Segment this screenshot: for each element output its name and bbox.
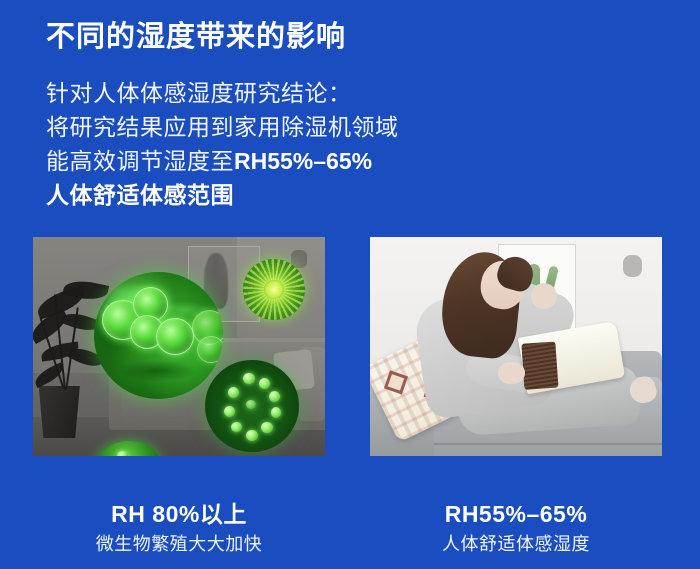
caption-high-humidity: RH 80%以上 微生物繁殖大大加快: [33, 500, 325, 556]
intro-line-3: 能高效调节湿度至RH55%–65%: [46, 144, 399, 178]
microbe-dot: [246, 430, 257, 441]
intro-paragraph: 针对人体体感湿度研究结论： 将研究结果应用到家用除湿机领域 能高效调节湿度至RH…: [46, 76, 399, 212]
microbe-large-icon: [94, 272, 222, 399]
woman-hand-at-forehead: [531, 283, 557, 309]
humidity-range-highlight: RH55%–65%: [234, 148, 372, 174]
microbe-dot: [261, 422, 272, 433]
intro-line-1: 针对人体体感湿度研究结论：: [46, 76, 399, 110]
caption-title: RH 80%以上: [33, 500, 325, 528]
photo-comfort-humidity: [370, 237, 662, 456]
plant-pot: [36, 386, 83, 439]
bright-living-room-scene: [370, 237, 662, 456]
microbe-dot: [259, 378, 270, 389]
dim-living-room-scene: [33, 237, 325, 456]
intro-line-3-prefix: 能高效调节湿度至: [46, 148, 234, 174]
microbe-cell: [156, 318, 194, 356]
microbe-dot: [224, 406, 235, 417]
humidity-infographic: 不同的湿度带来的影响 针对人体体感湿度研究结论： 将研究结果应用到家用除湿机领域…: [0, 0, 700, 569]
woman-hand-holding-book: [498, 362, 524, 384]
microbe-core: [264, 280, 284, 300]
microbe-dot: [271, 407, 281, 417]
book-spine: [521, 341, 558, 389]
caption-comfort-humidity: RH55%–65% 人体舒适体感湿度: [370, 500, 662, 556]
microbe-dot: [246, 400, 255, 409]
page-title: 不同的湿度带来的影响: [46, 18, 346, 56]
microbe-cell: [197, 336, 223, 363]
caption-subtitle: 人体舒适体感湿度: [370, 532, 662, 556]
microbe-dot: [117, 451, 129, 456]
intro-line-2: 将研究结果应用到家用除湿机领域: [46, 110, 399, 144]
pillow-motif: [384, 371, 408, 395]
caption-title: RH55%–65%: [370, 500, 662, 528]
microbe-medium-icon: [205, 360, 298, 452]
wall-speaker: [623, 255, 642, 277]
photo-high-humidity: [33, 237, 325, 456]
microbe-dot: [269, 391, 280, 402]
microbe-dot: [243, 373, 255, 385]
microbe-dot: [228, 387, 239, 398]
microbe-small-icon: [243, 259, 304, 320]
intro-line-4: 人体舒适体感范围: [46, 178, 399, 212]
caption-subtitle: 微生物繁殖大大加快: [33, 532, 325, 556]
microbe-dot: [231, 422, 241, 432]
